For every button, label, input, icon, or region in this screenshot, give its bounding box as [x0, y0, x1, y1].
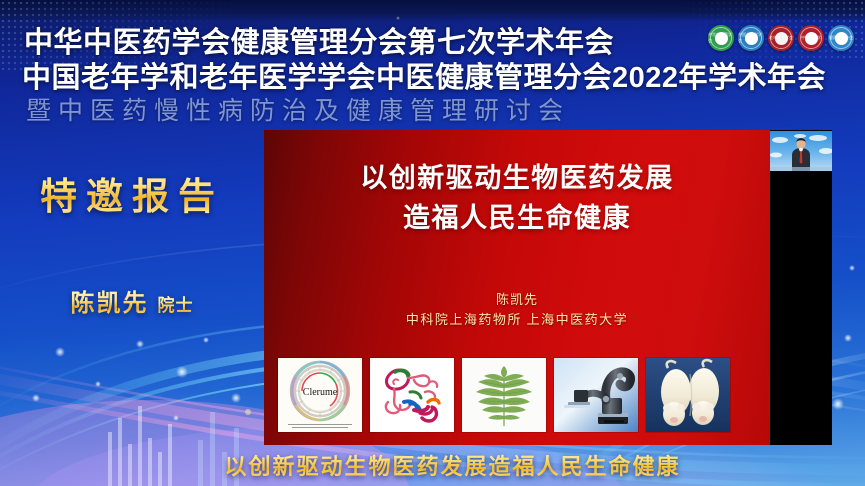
logo-geriatric-medicine-icon: 老年医学学会 — [768, 25, 794, 51]
conference-title-line1: 中华中医药学会健康管理分会第七次学术年会 — [24, 26, 614, 60]
bottom-ticker-bar: 以创新驱动生物医药发展造福人民生命健康 — [0, 444, 865, 486]
thumb-robotic-arm — [554, 358, 638, 432]
logo-label: 中华中医药学会 — [708, 25, 734, 51]
conference-subtitle-line3: 暨中医药慢性病防治及健康管理研讨会 — [26, 96, 570, 126]
session-type-label: 特邀报告 — [0, 166, 264, 220]
presentation-slide: 以创新驱动生物医药发展 造福人民生命健康 陈凯先 中科院上海药物所 上海中医药大… — [264, 130, 770, 445]
logo-label: 老年医学学会 — [768, 25, 794, 51]
logo-gerontology-icon: 中国老年学学会 — [738, 25, 764, 51]
thumb-circos-genome-diagram: Clerume — [278, 358, 362, 432]
thumb-artemisia-leaf — [462, 358, 546, 432]
speaker-credit: 陈凯先院士 — [0, 283, 264, 318]
slide-affiliation: 中科院上海药物所 上海中医药大学 — [264, 310, 770, 330]
logo-tcm-university-icon: 中医药大学 — [798, 25, 824, 51]
logo-label: 健康管理分会 — [828, 25, 854, 51]
logo-cacm-health-icon: 中华中医药学会 — [708, 25, 734, 51]
speaker-video-inset — [770, 131, 832, 171]
ticker-title: 以创新驱动生物医药发展造福人民生命健康 — [184, 449, 680, 481]
slide-thumbnail-row: Clerume — [278, 358, 730, 432]
logo-label: 中国老年学学会 — [738, 25, 764, 51]
speaker-academic-title: 院士 — [158, 296, 194, 315]
logo-health-management-icon: 健康管理分会 — [828, 25, 854, 51]
logo-label: 中医药大学 — [798, 25, 824, 51]
slide-title-line1: 以创新驱动生物医药发展 — [264, 158, 770, 198]
organizer-logo-group: 中华中医药学会 中国老年学学会 老年医学学会 中医药大学 健康管理分会 — [708, 25, 854, 51]
thumb-lab-mice — [646, 358, 730, 432]
thumb-circos-caption: Clerume — [303, 387, 338, 398]
slide-title-line2: 造福人民生命健康 — [264, 198, 770, 238]
slide-author: 陈凯先 — [264, 290, 770, 310]
thumb-protein-structure-ribbon — [370, 358, 454, 432]
video-feed-panel — [770, 130, 832, 445]
conference-title-line2: 中国老年学和老年医学学会中医健康管理分会2022年学术年会 — [22, 61, 826, 95]
slide-title: 以创新驱动生物医药发展 造福人民生命健康 — [264, 158, 770, 238]
speaker-name: 陈凯先 — [71, 290, 149, 317]
left-info-panel: 特邀报告 陈凯先院士 — [0, 150, 264, 380]
broadcast-stage: 中华中医药学会健康管理分会第七次学术年会 中国老年学和老年医学学会中医健康管理分… — [0, 0, 865, 486]
